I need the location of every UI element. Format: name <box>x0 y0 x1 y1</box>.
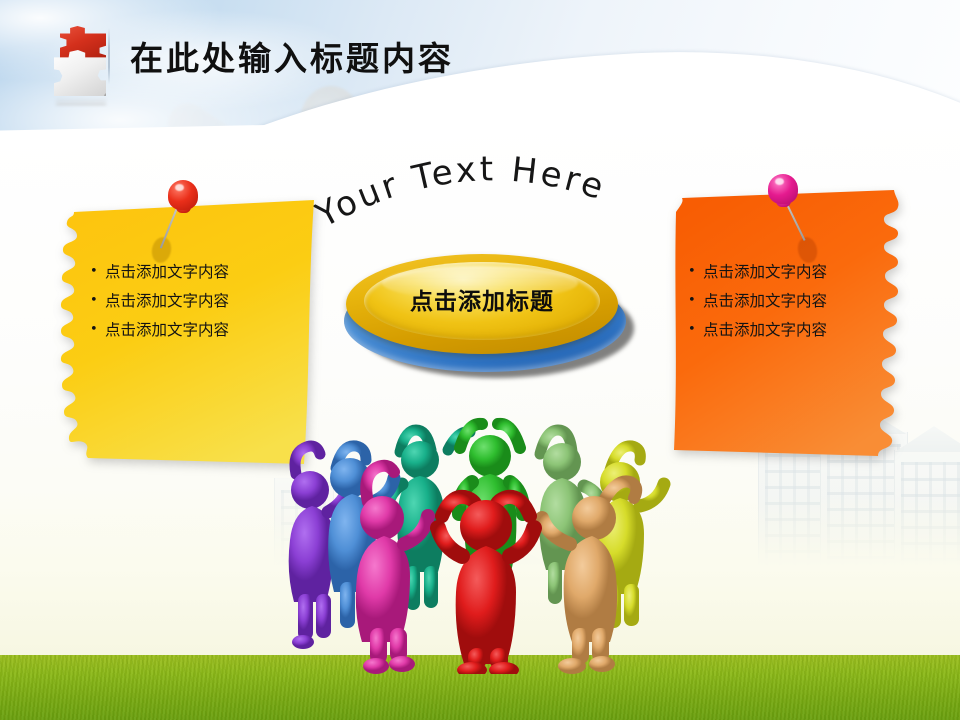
pushpin-highlight <box>775 178 784 185</box>
center-button-label: 点击添加标题 <box>338 282 626 316</box>
list-item[interactable]: 点击添加文字内容 <box>90 316 229 345</box>
figure-red <box>438 497 534 674</box>
list-item[interactable]: 点击添加文字内容 <box>688 316 827 345</box>
page-title[interactable]: 在此处输入标题内容 <box>130 32 454 80</box>
pushpin-highlight <box>175 184 184 191</box>
puzzle-reflection <box>56 96 106 106</box>
list-item[interactable]: 点击添加文字内容 <box>688 287 827 316</box>
list-item[interactable]: 点击添加文字内容 <box>90 287 229 316</box>
note-right-bullet-list: 点击添加文字内容 点击添加文字内容 点击添加文字内容 <box>688 258 827 345</box>
wordart-textpath: Your Text Here <box>308 149 611 236</box>
crowd-3d-figures <box>272 412 692 674</box>
pink-pushpin[interactable] <box>762 172 806 250</box>
header-divider <box>108 28 110 84</box>
crowd-svg <box>272 412 692 674</box>
wordart-your-text-here[interactable]: Your Text Here <box>318 152 648 248</box>
center-title-button[interactable]: 点击添加标题 <box>338 248 638 384</box>
note-left-bullet-list: 点击添加文字内容 点击添加文字内容 点击添加文字内容 <box>90 258 229 345</box>
wordart-text: Your Text Here <box>308 149 611 236</box>
presentation-slide: 在此处输入标题内容 Your Text Here 点击添加标题 <box>0 0 960 720</box>
red-pushpin[interactable] <box>162 178 206 256</box>
